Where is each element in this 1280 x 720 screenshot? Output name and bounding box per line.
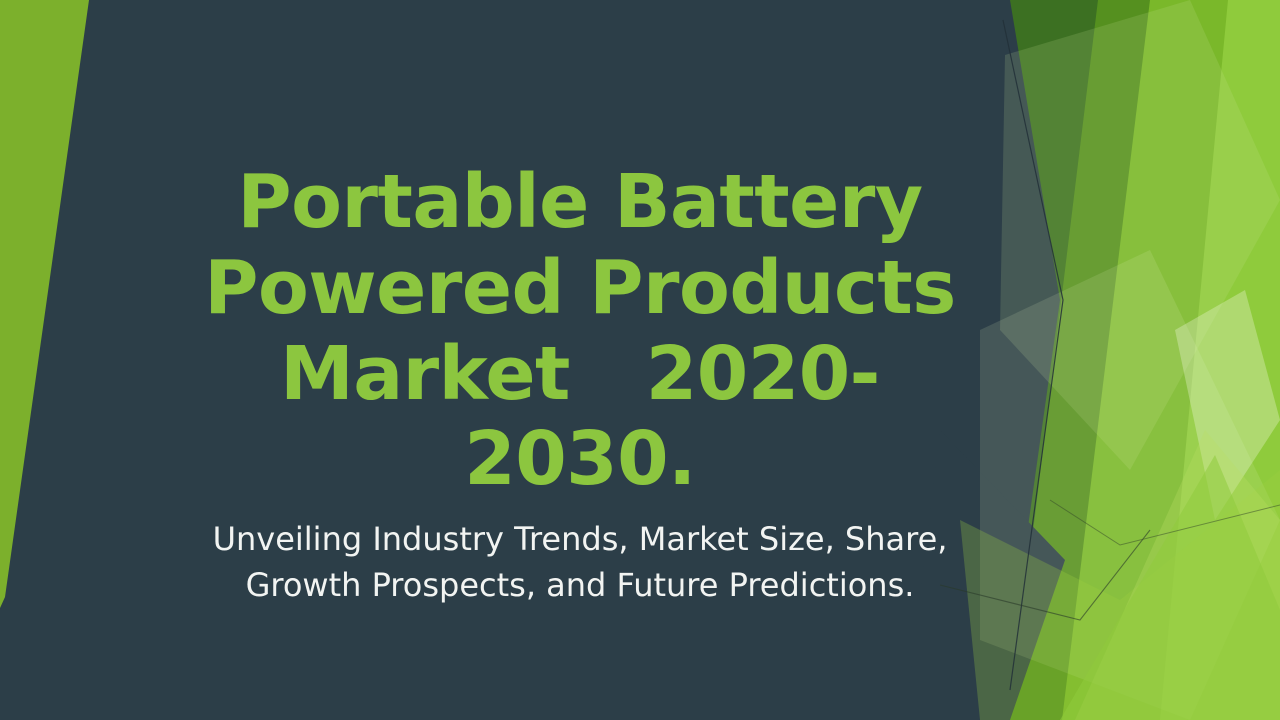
page-title: Portable Battery Powered Products Market… [190,160,970,503]
presentation-slide: Portable Battery Powered Products Market… [0,0,1280,720]
slide-subtitle: Unveiling Industry Trends, Market Size, … [190,517,970,608]
title-text-block: Portable Battery Powered Products Market… [190,160,970,608]
